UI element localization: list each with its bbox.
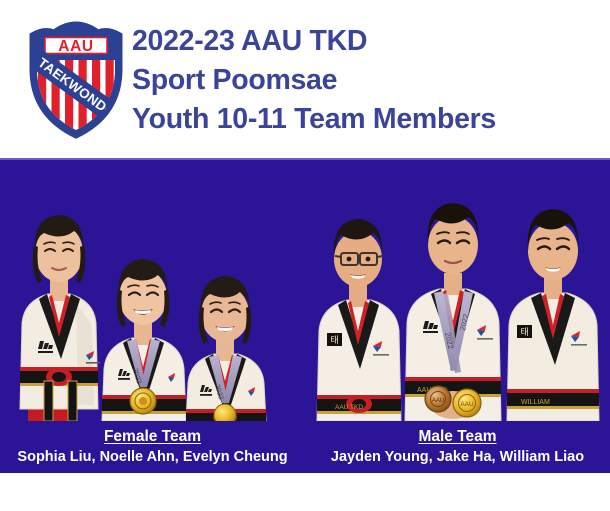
team-banner: 2022 — [0, 158, 610, 473]
title-line-2: Sport Poomsae — [132, 61, 602, 100]
page-title: 2022-23 AAU TKD Sport Poomsae Youth 10-1… — [132, 22, 602, 139]
footer-area — [0, 473, 610, 511]
male-team-title: Male Team — [305, 426, 610, 447]
logo-banner-text: AAU — [58, 38, 93, 55]
female-team-names: Sophia Liu, Noelle Ahn, Evelyn Cheung — [0, 447, 305, 468]
female-team-caption: Female Team Sophia Liu, Noelle Ahn, Evel… — [0, 426, 305, 468]
aau-taekwondo-shield-logo: AAU TAEKWONDO — [26, 17, 126, 139]
dobok-patch-text: 태 — [330, 335, 338, 345]
title-line-1: 2022-23 AAU TKD — [132, 22, 602, 61]
belt-embroidery-text: AAU TKD — [335, 404, 363, 411]
header-section: AAU TAEKWONDO 2022-23 AAU TKD Sport Poom… — [0, 0, 610, 158]
banner-top-rule — [0, 158, 610, 160]
female-team-photo: 2022 — [0, 173, 287, 421]
male-team-caption: Male Team Jayden Young, Jake Ha, William… — [305, 426, 610, 468]
medal-text: AAU — [460, 401, 474, 408]
female-team-title: Female Team — [0, 426, 305, 447]
dobok-patch-text: 태 — [520, 327, 528, 337]
male-team-photo: 태 AAU TKD — [305, 173, 610, 421]
title-line-3: Youth 10-11 Team Members — [132, 100, 602, 139]
belt-embroidery-text: WILLIAM — [521, 399, 550, 406]
medal-text: AAU — [432, 398, 444, 404]
male-team-names: Jayden Young, Jake Ha, William Liao — [305, 447, 610, 468]
